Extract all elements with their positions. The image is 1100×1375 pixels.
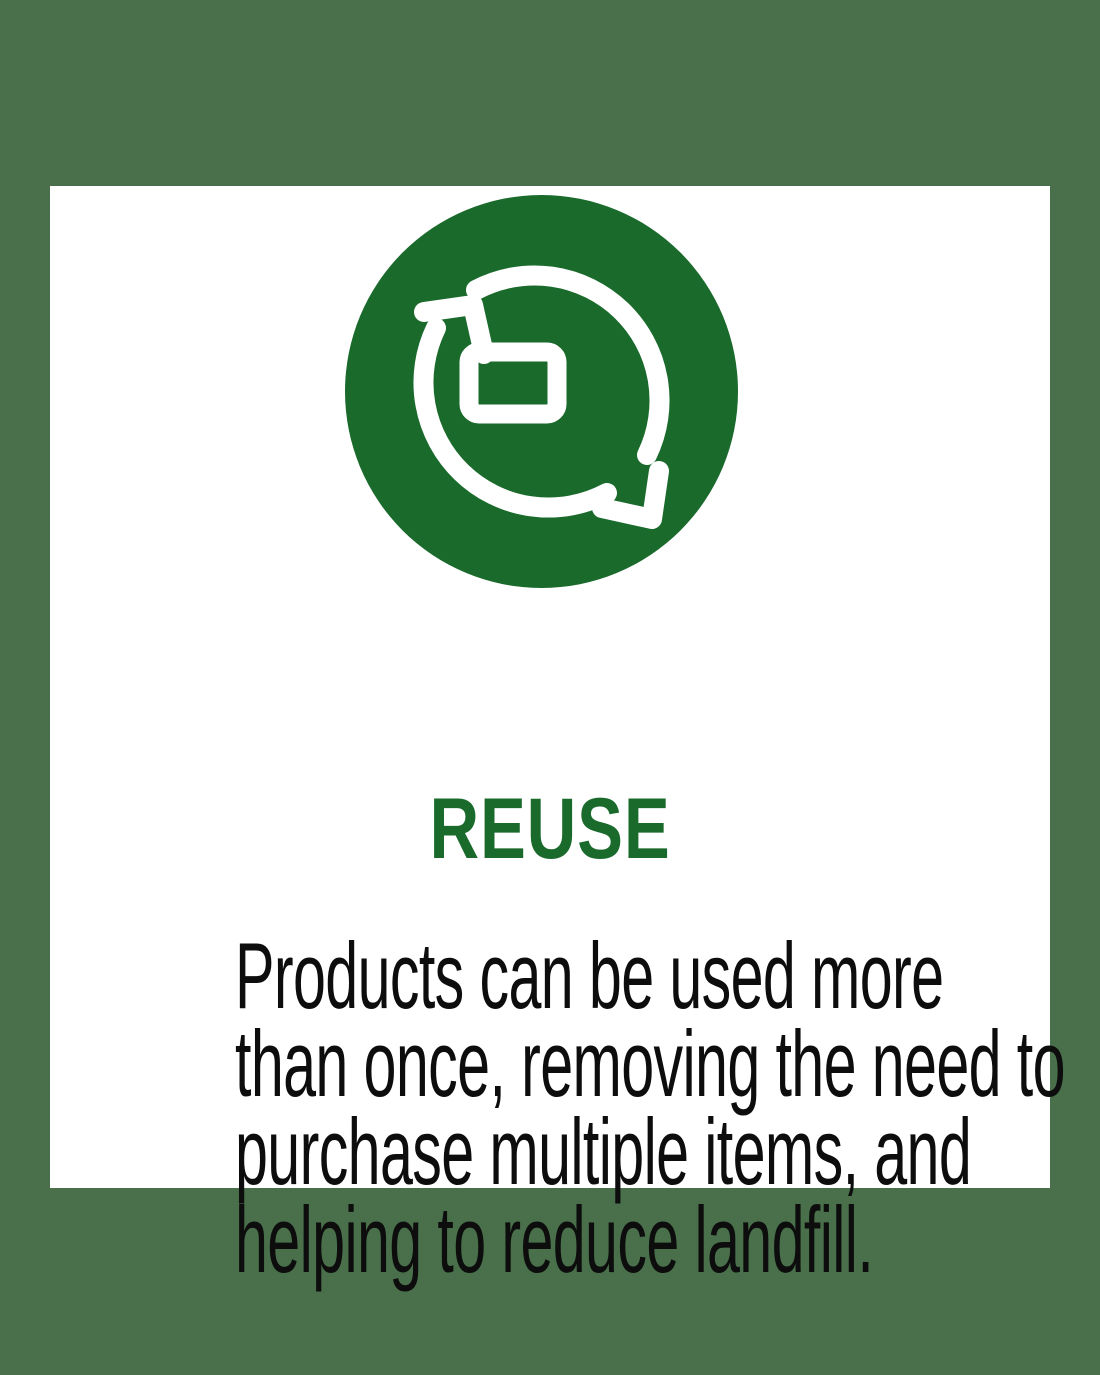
page-title: REUSE [150,781,950,877]
reuse-loop-icon-svg [345,195,738,588]
body-line-2: than once, removing the need to [235,1020,865,1108]
body-paragraph: Products can be used more than once, rem… [50,932,1050,1284]
center-rectangle-icon [469,352,557,414]
body-line-3: purchase multiple items, and [235,1108,865,1196]
body-line-4: helping to reduce landfill. [235,1196,865,1284]
body-line-1: Products can be used more [235,932,865,1020]
info-card: REUSE Products can be used more than onc… [50,186,1050,1188]
poster-canvas: REUSE Products can be used more than onc… [0,0,1100,1375]
arc-upper [476,275,660,455]
reuse-loop-icon [345,195,738,588]
